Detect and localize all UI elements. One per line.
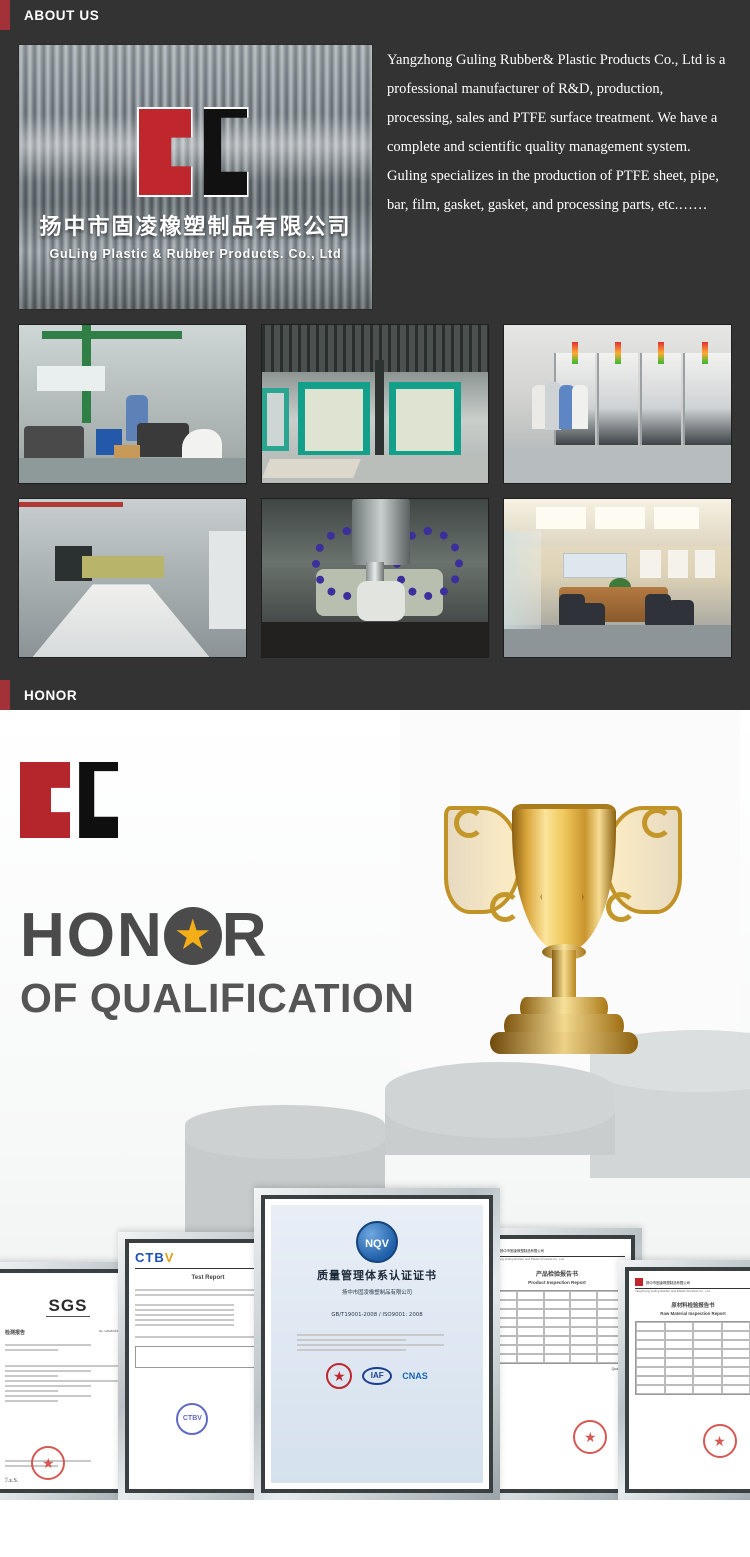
sgs-logo: SGS xyxy=(46,1296,91,1317)
certificate-gallery: SGS 检测报告 No. GZHKC1503876(G) ℐ.ᴇ.S. ★ xyxy=(0,1200,750,1500)
red-seal-icon: ★ xyxy=(703,1424,737,1458)
cnas-logo: CNAS xyxy=(402,1371,428,1381)
red-star-seal-icon: ★ xyxy=(326,1363,352,1389)
podium-left-top xyxy=(185,1105,385,1159)
about-us-section-header: ABOUT US xyxy=(0,0,750,30)
rmir-title-en: Raw Material Inspection Report xyxy=(635,1311,750,1316)
pir-company-cn: 扬中市固凌橡塑制品有限公司 xyxy=(500,1248,544,1253)
pir-title-cn: 产品检验报告书 xyxy=(489,1269,625,1278)
rmir-company-en: Yangzhong Guling Rubber and Plastic Prod… xyxy=(635,1289,750,1293)
rmir-company-cn: 扬中市固凌橡塑制品有限公司 xyxy=(646,1280,690,1285)
about-us-description: Yangzhong Guling Rubber& Plastic Product… xyxy=(387,44,732,310)
sign-company-name-en: GuLing Plastic & Rubber Products. Co., L… xyxy=(50,247,342,261)
honor-section-header: HONOR xyxy=(0,680,750,710)
factory-photo-cnc-milling[interactable]: Close-up of CNC milling head with coolan… xyxy=(261,498,490,658)
qms-company-cn: 扬中市固凌橡塑制品有限公司 xyxy=(279,1288,475,1296)
red-seal-icon: ★ xyxy=(573,1420,607,1454)
factory-photo-workshop-mixing[interactable]: Workshop with worker operating mixing eq… xyxy=(18,324,247,484)
accent-bar xyxy=(0,680,10,710)
sign-company-name-cn: 扬中市固凌橡塑制品有限公司 xyxy=(39,209,351,241)
gl-logo-icon xyxy=(137,107,255,199)
about-us-body: 扬中市固凌橡塑制品有限公司 GuLing Plastic & Rubber Pr… xyxy=(0,30,750,680)
nqv-logo: NQV xyxy=(356,1221,398,1263)
about-paragraph-2: Guling specializes in the production of … xyxy=(387,162,732,220)
gl-logo-icon xyxy=(20,762,120,840)
honor-headline-after: R xyxy=(222,905,269,967)
factory-photo-sintering-ovens[interactable]: Row of green industrial sintering ovens xyxy=(261,324,490,484)
certificate-quality-management[interactable]: NQV 质量管理体系认证证书 扬中市固凌橡塑制品有限公司 GB/T19001-2… xyxy=(254,1188,500,1500)
trophy-icon xyxy=(438,792,688,1092)
about-us-title: ABOUT US xyxy=(10,8,99,23)
qms-title-cn: 质量管理体系认证证书 xyxy=(279,1267,475,1283)
honor-subheadline: OF QUALIFICATION xyxy=(20,975,414,1022)
gold-star-icon xyxy=(164,907,222,965)
accent-bar xyxy=(0,0,10,30)
sgs-cert-title: 检测报告 xyxy=(5,1329,25,1336)
about-paragraph-1: Yangzhong Guling Rubber& Plastic Product… xyxy=(387,46,732,162)
honor-headline-before: HON xyxy=(20,905,164,967)
company-sign-image: 扬中市固凌橡塑制品有限公司 GuLing Plastic & Rubber Pr… xyxy=(18,44,373,310)
factory-photo-sheet-warehouse[interactable]: Warehouse with stacked PTFE sheets xyxy=(18,498,247,658)
ctbv-stamp: CTBV xyxy=(176,1403,208,1435)
factory-photo-grid: Workshop with worker operating mixing eq… xyxy=(18,324,732,658)
honor-headline: HON R xyxy=(20,905,269,967)
rmir-title-cn: 原材料检验报告书 xyxy=(635,1301,750,1309)
iaf-logo: IAF xyxy=(362,1367,392,1385)
certificate-raw-material-inspection[interactable]: 扬中市固凌橡塑制品有限公司 Yangzhong Guling Rubber an… xyxy=(618,1260,750,1500)
pir-company-en: Yangzhong Guling Rubber and Plastic Prod… xyxy=(489,1257,625,1261)
factory-photo-cnc-line[interactable]: CNC machining centre line with staff xyxy=(503,324,732,484)
qms-standard: GB/T19001-2008 / ISO9001: 2008 xyxy=(279,1312,475,1318)
pir-title-en: Product Inspection Report xyxy=(489,1280,625,1285)
gl-logo-icon xyxy=(635,1278,643,1286)
factory-photo-meeting-room[interactable]: Company meeting room with conference tab… xyxy=(503,498,732,658)
honor-banner: HON R OF QUALIFICATION BRAND POWER BUY M… xyxy=(0,710,750,1500)
honor-title: HONOR xyxy=(10,688,77,703)
about-us-intro-row: 扬中市固凌橡塑制品有限公司 GuLing Plastic & Rubber Pr… xyxy=(18,44,732,310)
